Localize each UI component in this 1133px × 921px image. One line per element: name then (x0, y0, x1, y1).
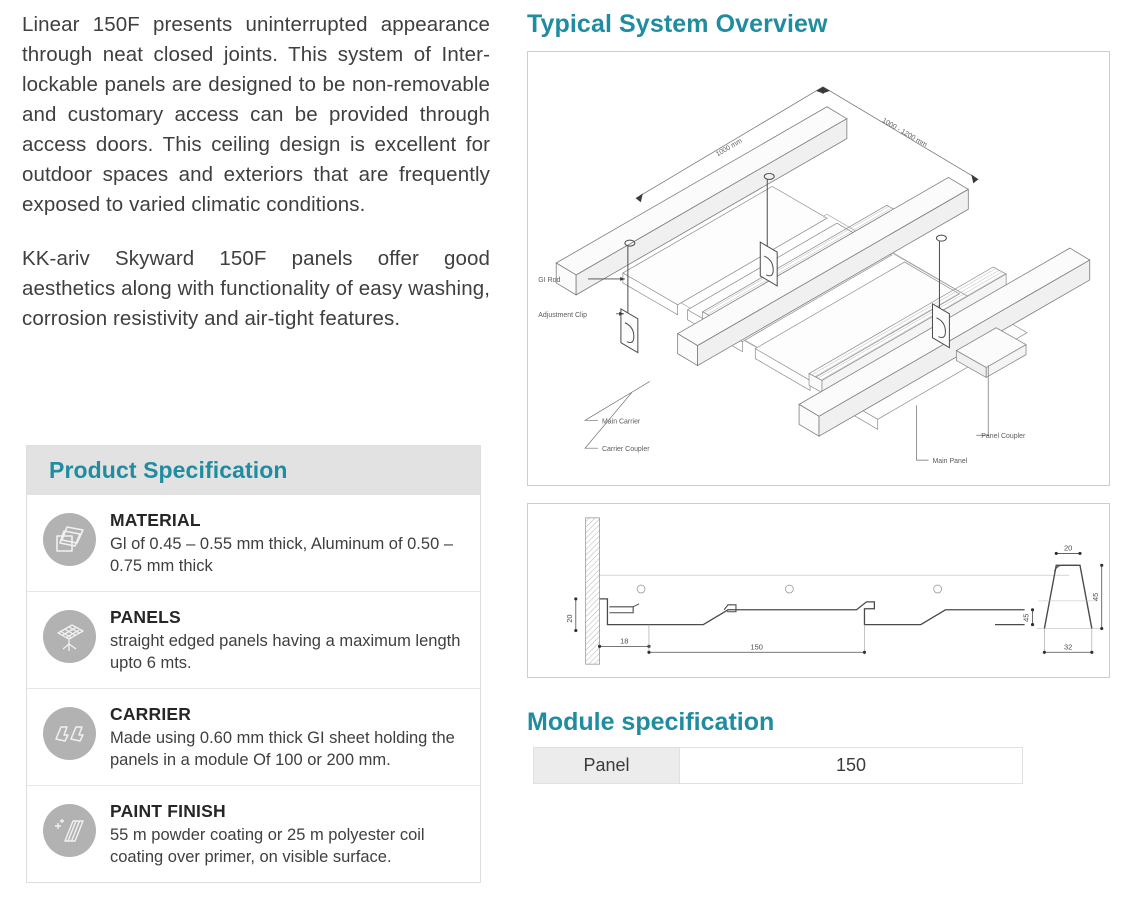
product-specification-header: Product Specification (26, 445, 481, 495)
module-specification-title: Module specification (527, 708, 1112, 737)
spec-desc-carrier: Made using 0.60 mm thick GI sheet holdin… (110, 727, 466, 771)
dimension-label-1000-1200mm: 1000 - 1200 mm (881, 117, 929, 148)
section-detail-diagram: 20 18 150 45 20 (527, 503, 1110, 678)
spec-title-material: MATERIAL (110, 510, 466, 531)
intro-paragraph-1: Linear 150F presents uninterrupted appea… (22, 10, 490, 220)
spec-text-paint-finish: PAINT FINISH 55 m powder coating or 25 m… (110, 800, 466, 868)
spec-text-panels: PANELS straight edged panels having a ma… (110, 606, 466, 674)
isometric-ceiling-drawing: 1000 mm 1000 - 1200 mm (528, 52, 1109, 485)
callout-label-main-carrier: Main Carrier (602, 418, 641, 425)
spec-title-panels: PANELS (110, 607, 466, 628)
system-overview-title: Typical System Overview (527, 10, 1112, 39)
spec-text-material: MATERIAL Gl of 0.45 – 0.55 mm thick, Alu… (110, 509, 466, 577)
callout-label-main-panel: Main Panel (932, 458, 967, 465)
dimension-profile-height: 45 (1091, 593, 1100, 601)
paint-finish-icon (43, 804, 96, 857)
product-specification-list: MATERIAL Gl of 0.45 – 0.55 mm thick, Alu… (27, 495, 480, 882)
system-overview-diagram: 1000 mm 1000 - 1200 mm (527, 51, 1110, 486)
table-row: Panel 150 (534, 748, 1023, 784)
left-column: Linear 150F presents uninterrupted appea… (22, 10, 490, 356)
trapezoid-profile (1044, 565, 1091, 628)
callout-label-panel-coupler: Panel Coupler (981, 433, 1026, 440)
intro-paragraph-2: KK-ariv Skyward 150F panels offer good a… (22, 244, 490, 334)
spec-title-paint-finish: PAINT FINISH (110, 801, 466, 822)
dimension-label-1000mm: 1000 mm (715, 138, 744, 159)
stacked-sheets-icon (43, 513, 96, 566)
spec-title-carrier: CARRIER (110, 704, 466, 725)
wall-hatch (586, 518, 600, 664)
product-sheet-page: Linear 150F presents uninterrupted appea… (0, 0, 1133, 921)
dimension-profile-top: 20 (1064, 543, 1072, 552)
module-row-label: Panel (534, 748, 680, 784)
module-specification-block: Module specification Panel 150 (527, 708, 1112, 784)
callout-label-adjustment-clip: Adjustment Clip (538, 312, 587, 319)
spec-item-paint-finish: PAINT FINISH 55 m powder coating or 25 m… (27, 786, 480, 882)
dimension-wall-offset: 18 (620, 636, 628, 645)
dimension-panel-depth: 45 (1022, 614, 1031, 622)
dimension-profile-bottom: 32 (1064, 642, 1072, 651)
spec-item-panels: PANELS straight edged panels having a ma… (27, 592, 480, 689)
spec-desc-material: Gl of 0.45 – 0.55 mm thick, Aluminum of … (110, 533, 466, 577)
product-specification-title: Product Specification (49, 457, 288, 483)
dimension-panel-width: 150 (751, 642, 763, 651)
callout-label-carrier-coupler: Carrier Coupler (602, 446, 650, 453)
spec-desc-paint-finish: 55 m powder coating or 25 m polyester co… (110, 824, 466, 868)
panel-section-drawing: 20 18 150 45 20 (528, 504, 1109, 677)
dimension-wall-height: 20 (565, 615, 574, 623)
callout-label-gi-rod: GI Rod (538, 277, 560, 284)
module-row-value: 150 (680, 748, 1023, 784)
spec-item-material: MATERIAL Gl of 0.45 – 0.55 mm thick, Alu… (27, 495, 480, 592)
right-column: Typical System Overview (527, 10, 1112, 784)
mesh-panel-icon (43, 610, 96, 663)
spec-item-carrier: CARRIER Made using 0.60 mm thick GI shee… (27, 689, 480, 786)
spec-text-carrier: CARRIER Made using 0.60 mm thick GI shee… (110, 703, 466, 771)
carrier-profile-icon (43, 707, 96, 760)
spec-desc-panels: straight edged panels having a maximum l… (110, 630, 466, 674)
module-specification-table: Panel 150 (533, 747, 1023, 784)
product-specification-panel: Product Specification MATERIAL Gl of 0.4… (26, 446, 481, 883)
